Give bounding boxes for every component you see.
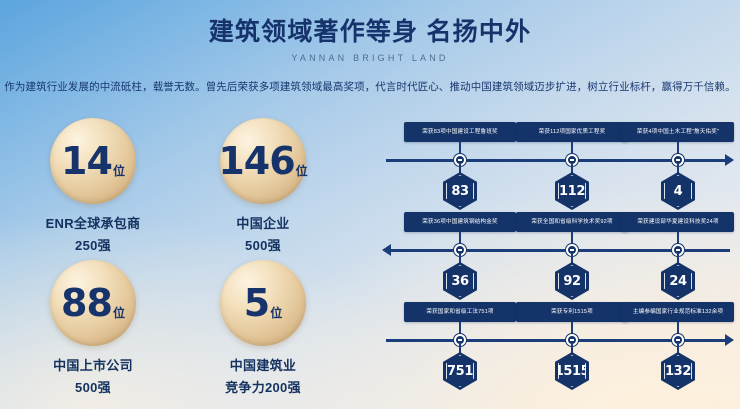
timeline-item[interactable]: 荣获4项中国土木工程"詹天佑奖" 4 [622,122,734,142]
timeline-item[interactable]: 荣获36项中国建筑钢结构金奖 36 [404,212,516,232]
timeline-card-label: 荣获全国和省级科学技术奖92项 [516,212,628,232]
stat-card: 5 位 中国建筑业 竞争力200强 [178,260,348,402]
stat-number: 14 [61,142,112,180]
stat-label-line2: 竞争力200强 [178,377,348,396]
timeline-arrow-left-icon [382,244,391,256]
medal-badge: 88 位 [50,260,136,346]
promo-banner: 建筑领域著作等身 名扬中外 YANNAN BRIGHT LAND 作为建筑行业发… [0,0,740,409]
stat-number: 146 [218,142,294,180]
awards-timeline: 荣获83项中国建设工程鲁班奖 83 荣获112项国家优质工程奖 112 [382,122,734,392]
timeline-item[interactable]: 荣获专利1515项 1515 [516,302,628,322]
brand-subtitle: YANNAN BRIGHT LAND [0,53,740,63]
timeline-card-label: 荣获国家和省级工法751项 [404,302,516,322]
timeline-hex-badge: 24 [661,262,695,300]
timeline-row: 荣获36项中国建筑钢结构金奖 36 荣获全国和省级科学技术奖92项 92 [382,212,734,302]
timeline-item[interactable]: 荣获全国和省级科学技术奖92项 92 [516,212,628,232]
timeline-value: 112 [559,184,585,199]
timeline-hex-badge: 112 [555,172,589,210]
timeline-hex-badge: 1515 [555,352,589,390]
stat-label-line1: 中国建筑业 [178,355,348,374]
stat-label-line2: 250强 [8,235,178,254]
timeline-value: 92 [563,274,580,289]
timeline-value: 36 [451,274,468,289]
stat-card: 14 位 ENR全球承包商 250强 [8,118,178,260]
intro-paragraph: 作为建筑行业发展的中流砥柱，载誉无数。曾先后荣获多项建筑领域最高奖项，代言时代匠… [0,79,740,94]
timeline-item[interactable]: 荣获83项中国建设工程鲁班奖 83 [404,122,516,142]
timeline-card-label: 荣获112项国家优质工程奖 [516,122,628,142]
timeline-hex-badge: 751 [443,352,477,390]
header: 建筑领域著作等身 名扬中外 YANNAN BRIGHT LAND 作为建筑行业发… [0,0,740,94]
timeline-item[interactable]: 荣获建设部华夏建设科技奖24项 24 [622,212,734,232]
timeline-card-label: 荣获83项中国建设工程鲁班奖 [404,122,516,142]
stat-unit: 位 [270,307,282,319]
timeline-value: 751 [447,364,473,379]
stat-label-line1: 中国企业 [178,213,348,232]
timeline-card-label: 荣获4项中国土木工程"詹天佑奖" [622,122,734,142]
timeline-hex-badge: 4 [661,172,695,210]
timeline-row: 荣获国家和省级工法751项 751 荣获专利1515项 1515 [382,302,734,392]
timeline-item[interactable]: 主编参编国家行业规范标准132余项 132 [622,302,734,322]
timeline-card-label: 主编参编国家行业规范标准132余项 [622,302,734,322]
timeline-arrow-right-icon [725,334,734,346]
stat-card: 88 位 中国上市公司 500强 [8,260,178,402]
timeline-item[interactable]: 荣获国家和省级工法751项 751 [404,302,516,322]
stat-label-line2: 500强 [8,377,178,396]
timeline-card-label: 荣获建设部华夏建设科技奖24项 [622,212,734,232]
stat-number: 88 [61,284,112,322]
timeline-value: 24 [669,274,686,289]
medal-badge: 146 位 [220,118,306,204]
medal-badge: 14 位 [50,118,136,204]
stat-unit: 位 [113,165,125,177]
stat-number: 5 [244,284,269,322]
timeline-item[interactable]: 荣获112项国家优质工程奖 112 [516,122,628,142]
timeline-card-label: 荣获36项中国建筑钢结构金奖 [404,212,516,232]
stat-unit: 位 [113,307,125,319]
timeline-value: 1515 [555,364,590,379]
timeline-value: 83 [451,184,468,199]
stat-label-line1: 中国上市公司 [8,355,178,374]
timeline-hex-badge: 36 [443,262,477,300]
stat-card: 146 位 中国企业 500强 [178,118,348,260]
timeline-row: 荣获83项中国建设工程鲁班奖 83 荣获112项国家优质工程奖 112 [382,122,734,212]
medal-badge: 5 位 [220,260,306,346]
stat-label-line1: ENR全球承包商 [8,213,178,232]
page-title: 建筑领域著作等身 名扬中外 [0,17,740,48]
stats-grid: 14 位 ENR全球承包商 250强 146 位 中国企业 500强 88 位 [8,118,348,402]
stat-unit: 位 [296,165,308,177]
timeline-value: 4 [674,184,683,199]
timeline-hex-badge: 132 [661,352,695,390]
stat-label-line2: 500强 [178,235,348,254]
timeline-value: 132 [665,364,691,379]
timeline-arrow-right-icon [725,154,734,166]
timeline-card-label: 荣获专利1515项 [516,302,628,322]
timeline-hex-badge: 83 [443,172,477,210]
timeline-hex-badge: 92 [555,262,589,300]
